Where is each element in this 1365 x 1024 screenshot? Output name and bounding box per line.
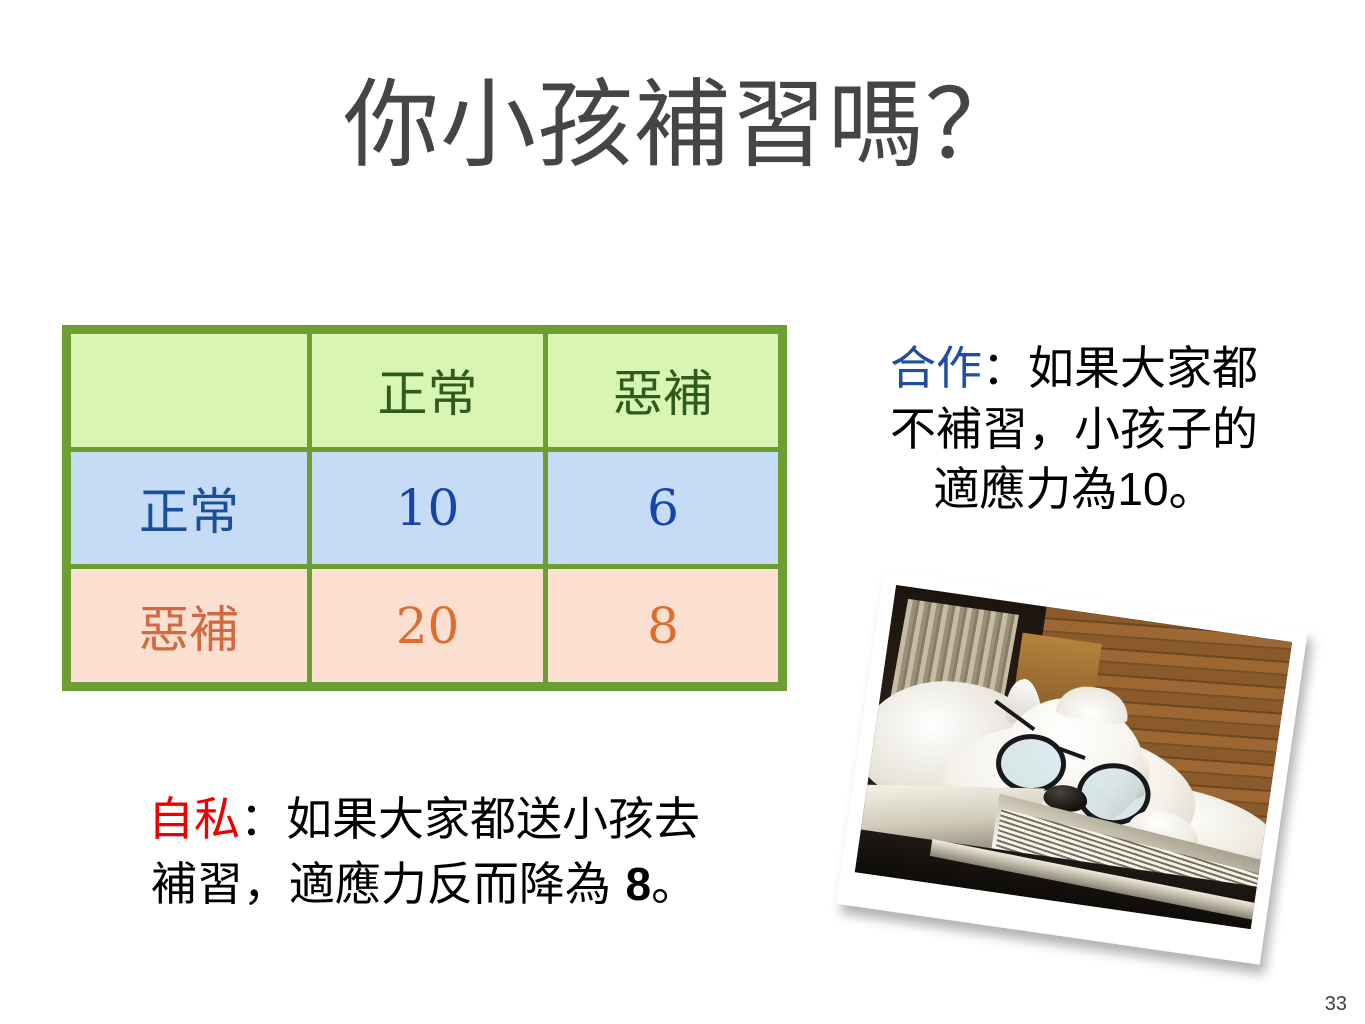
photo-image-area xyxy=(855,585,1292,929)
table-col-header-normal: 正常 xyxy=(310,330,546,450)
slide-canvas: 你小孩補習嗎？ 正常 惡補 正常 10 6 惡補 20 8 xyxy=(0,0,1365,1024)
table-row-header-cram: 惡補 xyxy=(67,567,310,687)
page-title: 你小孩補習嗎？ xyxy=(0,70,1365,180)
table-col-header-cram: 惡補 xyxy=(546,330,783,450)
cooperation-separator: ： xyxy=(982,341,1028,395)
cooperation-line3-after: 。 xyxy=(1169,462,1215,516)
selfish-note: 自私：如果大家都送小孩去 補習，適應力反而降為 8。 xyxy=(74,787,774,918)
page-number: 33 xyxy=(1325,993,1347,1016)
cooperation-note: 合作：如果大家都 不補習，小孩子的 適應力為10。 xyxy=(826,338,1322,520)
cooperation-line3-number: 10 xyxy=(1117,463,1168,515)
table-header-row: 正常 惡補 xyxy=(67,330,783,450)
selfish-line2-number: 8 xyxy=(626,858,652,910)
payoff-matrix-table: 正常 惡補 正常 10 6 惡補 20 8 xyxy=(62,325,787,691)
selfish-separator: ： xyxy=(240,792,286,846)
table-cell-cram-cram: 8 xyxy=(546,567,783,687)
table-row: 惡補 20 8 xyxy=(67,567,783,687)
selfish-highlight: 自私 xyxy=(148,792,240,846)
selfish-line2-before: 補習，適應力反而降為 xyxy=(151,857,626,911)
table-corner-cell xyxy=(67,330,310,450)
selfish-line1-rest: 如果大家都送小孩去 xyxy=(286,792,700,846)
cooperation-line3-before: 適應力為 xyxy=(933,462,1117,516)
dog-reading-book-photo xyxy=(836,569,1308,965)
cooperation-line2: 不補習，小孩子的 xyxy=(890,402,1258,456)
table-cell-cram-normal: 20 xyxy=(310,567,546,687)
selfish-line2-after: 。 xyxy=(651,857,697,911)
table-cell-normal-normal: 10 xyxy=(310,449,546,567)
table-cell-normal-cram: 6 xyxy=(546,449,783,567)
cooperation-line1-rest: 如果大家都 xyxy=(1028,341,1258,395)
table-row-header-normal: 正常 xyxy=(67,449,310,567)
table-row: 正常 10 6 xyxy=(67,449,783,567)
cooperation-highlight: 合作 xyxy=(890,341,982,395)
